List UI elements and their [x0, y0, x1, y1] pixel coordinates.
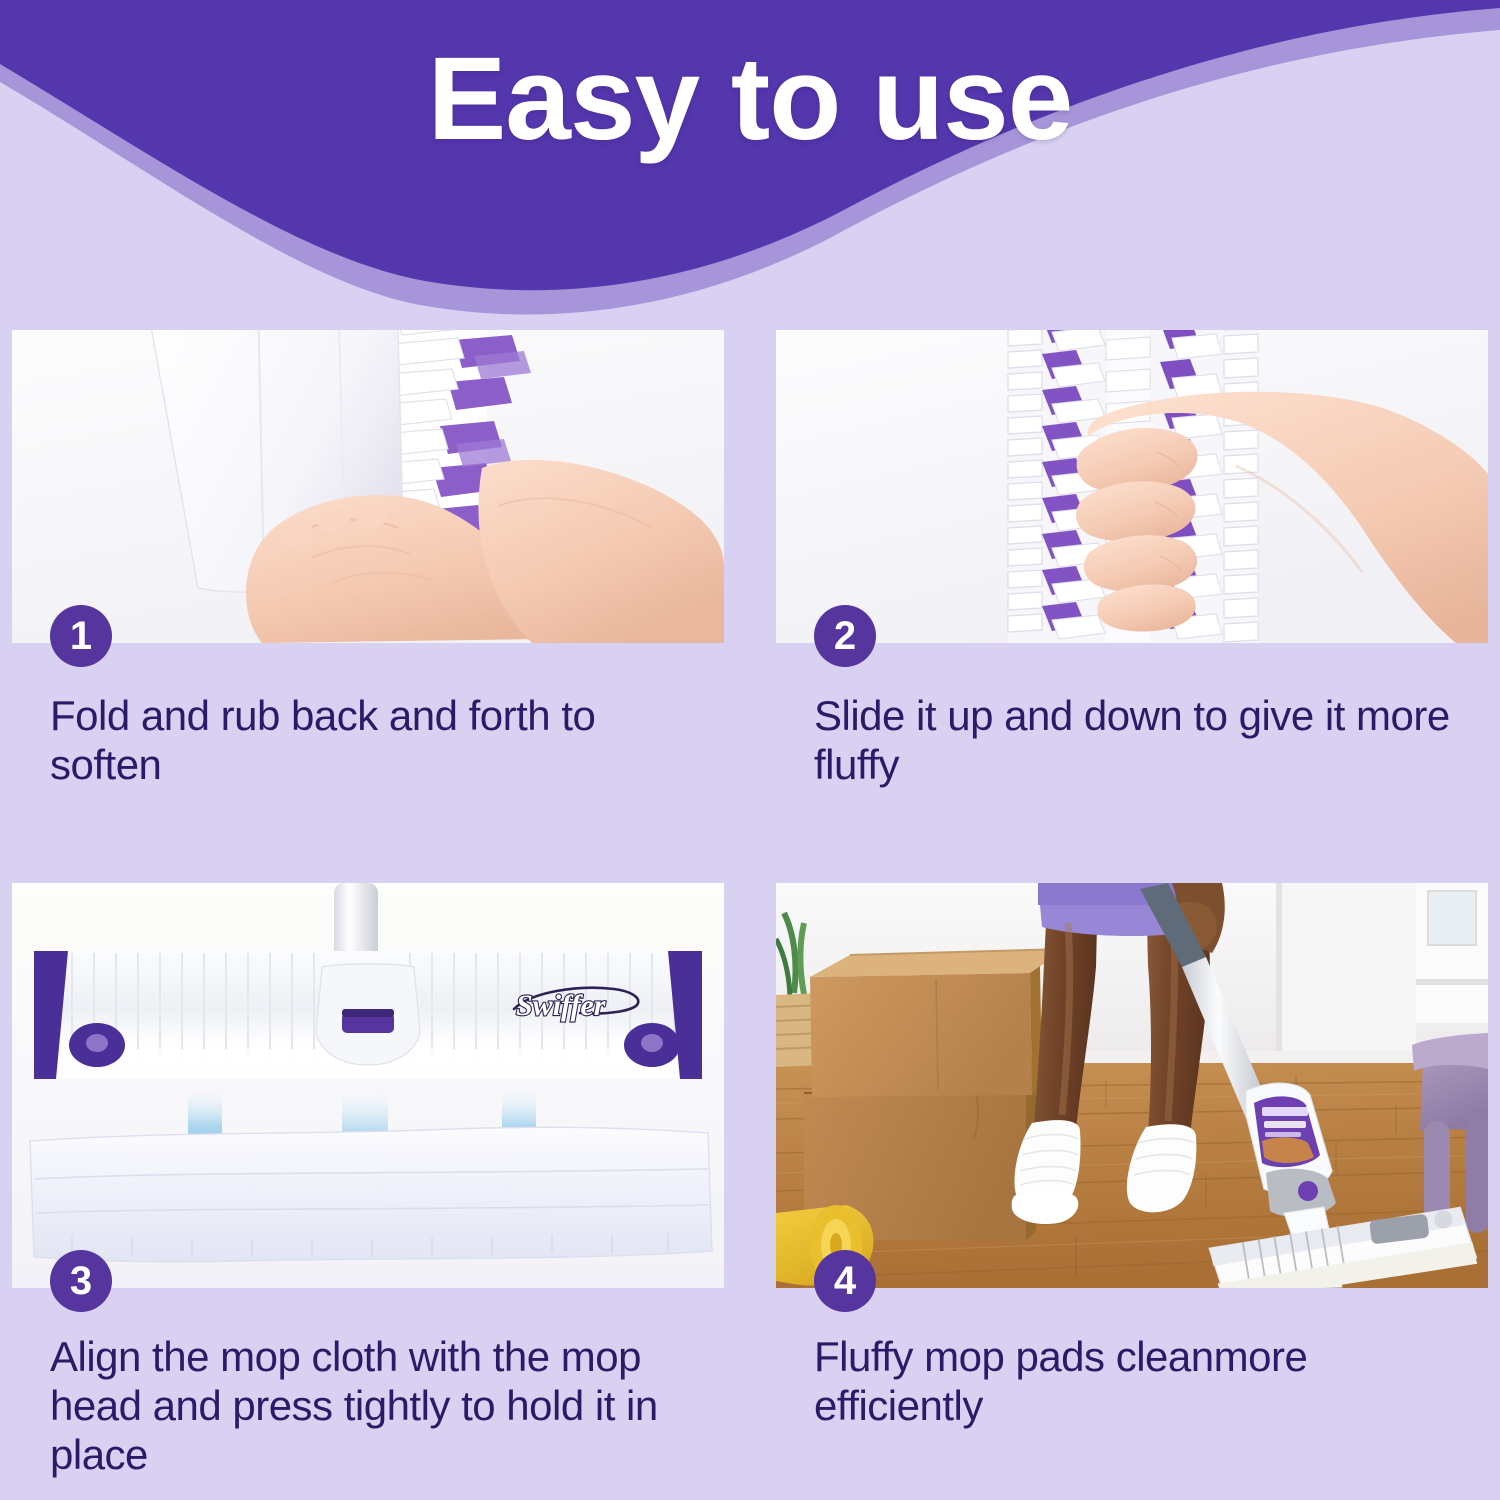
step-3-caption: Align the mop cloth with the mop head an… — [50, 1332, 710, 1479]
step-3-badge: 3 — [50, 1250, 112, 1312]
header-banner — [0, 0, 1500, 330]
header-banner-shape — [0, 0, 1500, 330]
step-1-badge: 1 — [50, 605, 112, 667]
step-2-caption-zone: 2 Slide it up and down to give it more f… — [776, 643, 1488, 843]
step-3-photo: Swiffer — [12, 883, 724, 1288]
step-card-4: 4 Fluffy mop pads cleanmore efficiently — [776, 883, 1488, 1488]
step-4-caption: Fluffy mop pads cleanmore efficiently — [814, 1332, 1474, 1430]
step-2-caption: Slide it up and down to give it more flu… — [814, 691, 1474, 789]
step-4-photo — [776, 883, 1488, 1288]
step-4-caption-zone: 4 Fluffy mop pads cleanmore efficiently — [776, 1288, 1488, 1488]
step-2-badge: 2 — [814, 605, 876, 667]
step-1-caption: Fold and rub back and forth to soften — [50, 691, 710, 789]
step-1-caption-zone: 1 Fold and rub back and forth to soften — [12, 643, 724, 843]
step-4-badge: 4 — [814, 1250, 876, 1312]
step-card-3: Swiffer — [12, 883, 724, 1488]
steps-grid: 1 Fold and rub back and forth to soften — [12, 238, 1488, 1488]
step-3-caption-zone: 3 Align the mop cloth with the mop head … — [12, 1288, 724, 1488]
svg-text:Swiffer: Swiffer — [516, 989, 606, 1022]
